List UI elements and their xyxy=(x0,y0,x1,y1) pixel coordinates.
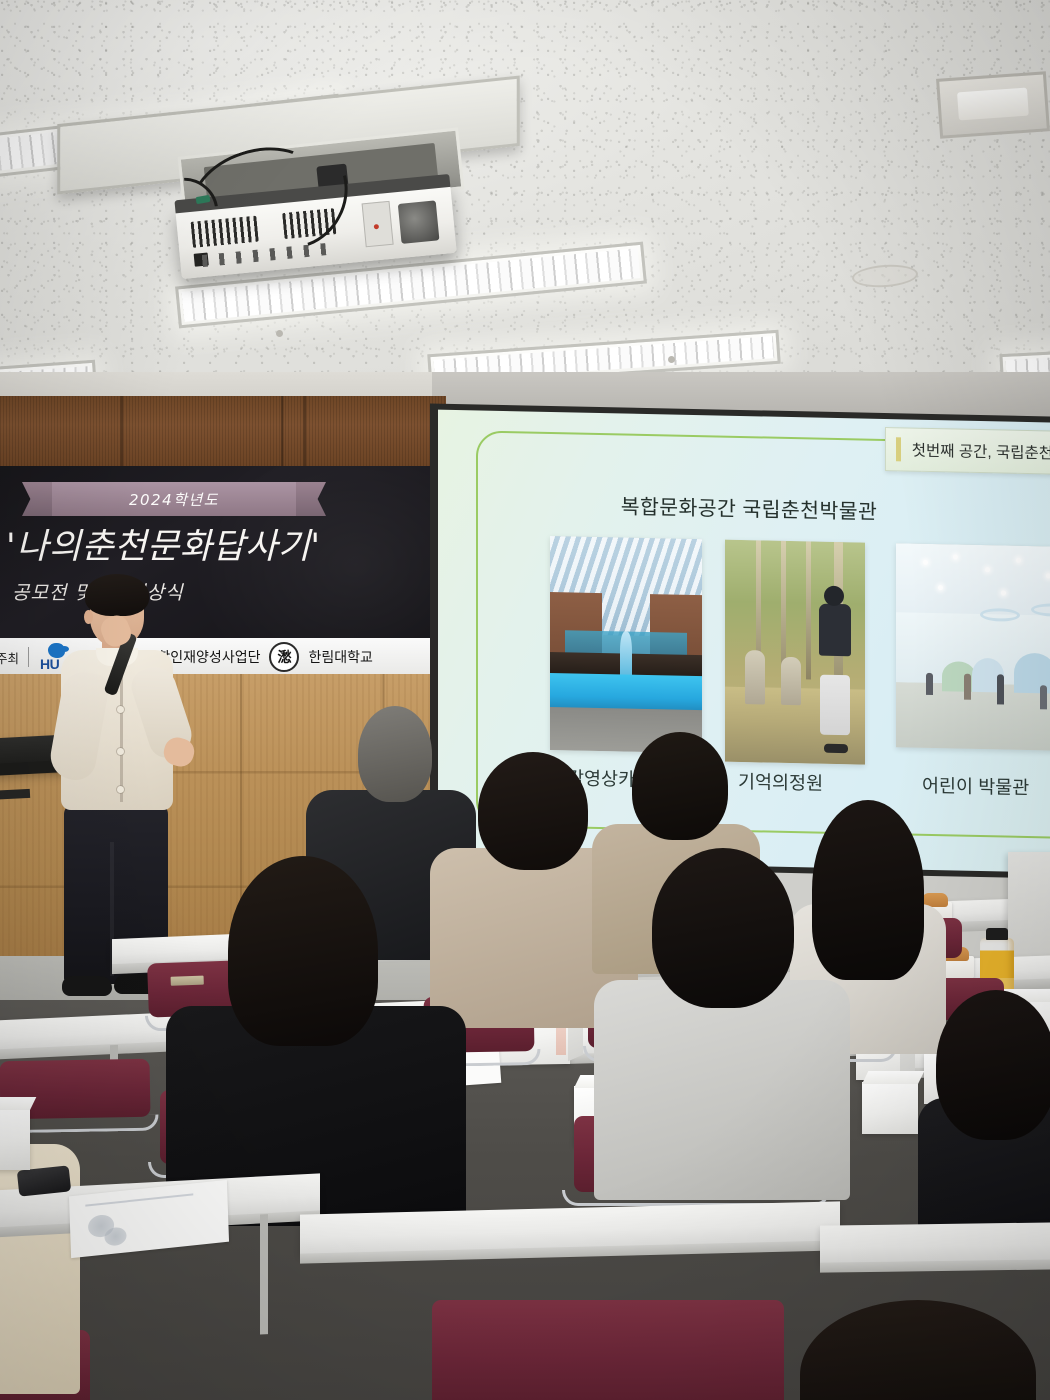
audience-head xyxy=(652,848,794,1008)
ceiling xyxy=(0,0,1050,400)
slide-caption-3: 어린이 박물관 xyxy=(922,772,1029,800)
banner-university-name: 한림대학교 xyxy=(308,647,372,667)
audience-torso xyxy=(594,980,850,1200)
photo-ceiling-light-icon xyxy=(1016,558,1021,563)
photo-ceiling-light-icon xyxy=(1001,590,1006,595)
slide-photo-children-museum xyxy=(896,543,1050,751)
photo-ceiling-light-icon xyxy=(1046,573,1050,578)
presenter-hair xyxy=(85,574,149,616)
audience-head xyxy=(358,706,432,802)
badge-accent-bar xyxy=(896,437,901,461)
presenter-button xyxy=(117,786,124,793)
audience-head xyxy=(632,732,728,840)
gift-box-lid xyxy=(0,1097,36,1110)
chair-backrest xyxy=(432,1300,784,1400)
photo-visitor-silhouette xyxy=(926,673,933,695)
audience-head xyxy=(228,856,378,1046)
photo-visitor-shoe xyxy=(824,744,848,754)
photo-visitor-silhouette xyxy=(964,674,971,700)
audience-member xyxy=(166,856,466,1206)
gift-box xyxy=(0,1108,30,1170)
presenter-button xyxy=(117,706,124,713)
slide-photo-immersive-media-cafe xyxy=(550,536,702,753)
presenter-ear xyxy=(84,610,93,624)
lecture-room-photo: 2024학년도 '나의춘천문화답사기' 공모전 및 ... 시상식 주최 HU … xyxy=(0,0,1050,1400)
seal-glyph: 㵞 xyxy=(277,647,291,667)
photo-center-column xyxy=(620,632,632,679)
presenter-shoe xyxy=(62,976,112,996)
desk-foreground-right xyxy=(820,1222,1050,1263)
gift-box xyxy=(862,1082,918,1134)
audience-head xyxy=(478,752,588,870)
photo-visitor-legs xyxy=(820,675,850,736)
presenter-button xyxy=(117,748,124,755)
smartphone xyxy=(17,1165,71,1196)
audience-head xyxy=(800,1300,1036,1400)
audience-member-foreground xyxy=(780,1300,1040,1400)
banner-ribbon: 2024학년도 xyxy=(50,482,298,516)
slide-badge-label: 첫번째 공간, 국립춘천 xyxy=(912,439,1050,464)
projector-ports xyxy=(196,243,327,267)
university-seal-icon: 㵞 xyxy=(269,642,299,672)
ceiling-texture xyxy=(0,0,1050,400)
photo-stone-statue xyxy=(781,657,801,705)
recessed-downlight xyxy=(936,71,1050,139)
photo-visitor-silhouette xyxy=(1040,685,1047,709)
audience-member xyxy=(594,848,850,1178)
gift-box-lid xyxy=(862,1071,924,1084)
wood-panel-upper xyxy=(0,396,446,468)
audience-head xyxy=(936,990,1050,1140)
banner-year-label: 2024학년도 xyxy=(50,482,298,516)
photo-tree-trunk xyxy=(806,541,811,679)
photo-visitor-silhouette xyxy=(997,674,1004,704)
ceiling-sprinkler-icon xyxy=(668,356,675,363)
chair-foreground xyxy=(432,1300,784,1400)
desk-leg xyxy=(260,1214,268,1334)
photo-visitor-body xyxy=(819,604,851,657)
photo-stone-statue xyxy=(745,650,765,704)
banner-title: '나의춘천문화답사기' xyxy=(6,518,426,569)
projector-lens-icon xyxy=(398,200,440,243)
photo-ceiling-light-icon xyxy=(938,585,943,590)
paper-text-line xyxy=(85,1193,193,1206)
bottle-cap-icon xyxy=(986,928,1008,940)
paper-stamp xyxy=(104,1226,127,1246)
photo-ceiling-light-icon xyxy=(923,560,928,565)
slide-section-badge: 첫번째 공간, 국립춘천 xyxy=(885,427,1050,475)
audience-member xyxy=(918,990,1050,1240)
banner-host-label: 주최 xyxy=(0,648,19,667)
slide-photo-memory-garden xyxy=(725,540,865,765)
ceiling-sprinkler-icon xyxy=(276,330,283,337)
banner-divider xyxy=(28,647,29,667)
